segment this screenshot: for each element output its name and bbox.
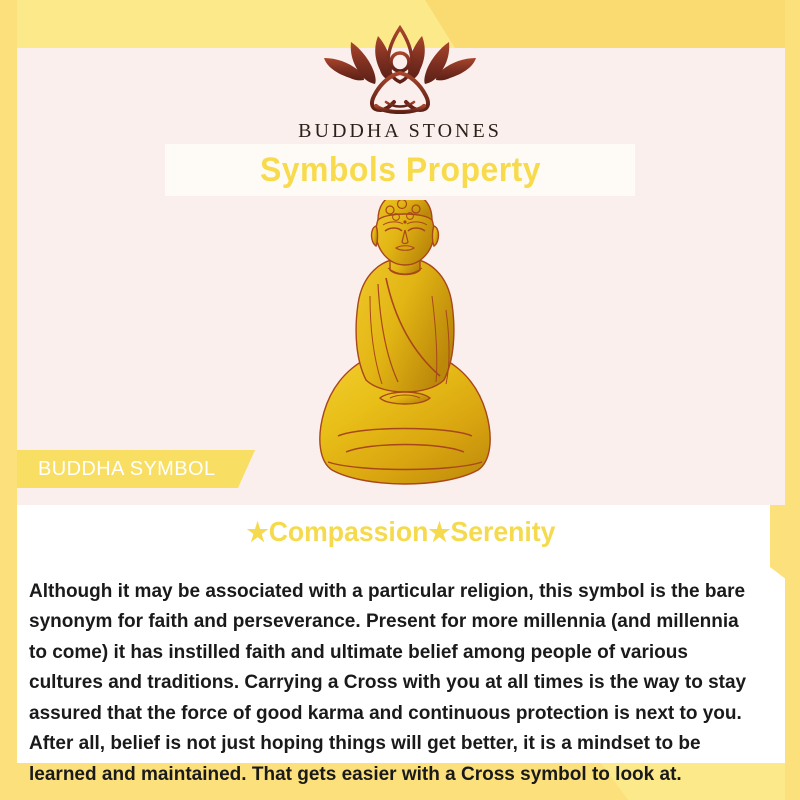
- brand-name: BUDDHA STONES: [0, 120, 800, 143]
- attribute-compassion: Compassion: [269, 516, 429, 547]
- description-paragraph: Although it may be associated with a par…: [29, 576, 749, 790]
- title-banner: Symbols Property: [165, 144, 635, 196]
- star-icon-right: ★: [428, 517, 450, 547]
- brand-header: BUDDHA STONES: [0, 22, 800, 143]
- attributes-heading: ★Compassion★Serenity: [36, 516, 766, 548]
- page-title: Symbols Property: [259, 151, 540, 190]
- lotus-meditation-icon: [310, 22, 490, 114]
- buddha-symbol-label: BUDDHA SYMBOL: [38, 458, 215, 481]
- poster-root: BUDDHA STONES Symbols Property: [0, 0, 800, 800]
- attribute-serenity: Serenity: [450, 516, 555, 547]
- golden-seated-buddha-illustration: [290, 200, 520, 490]
- buddha-symbol-ribbon: BUDDHA SYMBOL: [17, 450, 255, 488]
- star-icon-left: ★: [247, 517, 269, 547]
